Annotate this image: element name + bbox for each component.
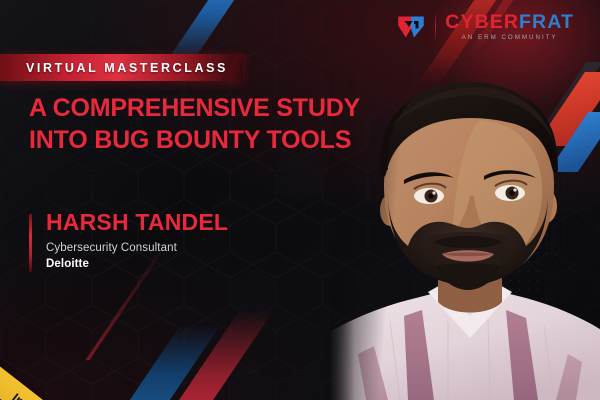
virtual-masterclass-banner: VIRTUAL MASTERCLASS xyxy=(0,54,243,81)
speaker-company: Deloitte xyxy=(46,258,228,270)
headline-line-1: A COMPREHENSIVE STUDY xyxy=(29,94,360,122)
headline-line-2: INTO BUG BOUNTY TOOLS xyxy=(29,125,389,157)
brand-logo[interactable]: CYBERFRAT AN ERM COMMUNITY xyxy=(396,12,574,42)
brand-wordmark: CYBERFRAT xyxy=(445,13,574,33)
brand-tagline: AN ERM COMMUNITY xyxy=(445,35,574,41)
banner-label: VIRTUAL MASTERCLASS xyxy=(0,61,228,75)
logo-divider xyxy=(435,14,437,40)
speaker-accent-bar xyxy=(29,214,32,272)
brand-wordmark-cyber: CYBER xyxy=(445,11,519,33)
speaker-name: HARSH TANDEL xyxy=(46,210,228,235)
brand-wordmark-frat: FRAT xyxy=(519,11,574,33)
page-title: A COMPREHENSIVE STUDY INTO BUG BOUNTY TO… xyxy=(29,93,389,157)
promo-poster: CYBERFRAT AN ERM COMMUNITY VIRTUAL MASTE… xyxy=(0,0,600,400)
cyberfrat-shield-logo-icon xyxy=(396,12,426,42)
speaker-block: HARSH TANDEL Cybersecurity Consultant De… xyxy=(29,210,228,270)
speaker-role: Cybersecurity Consultant xyxy=(46,242,228,254)
